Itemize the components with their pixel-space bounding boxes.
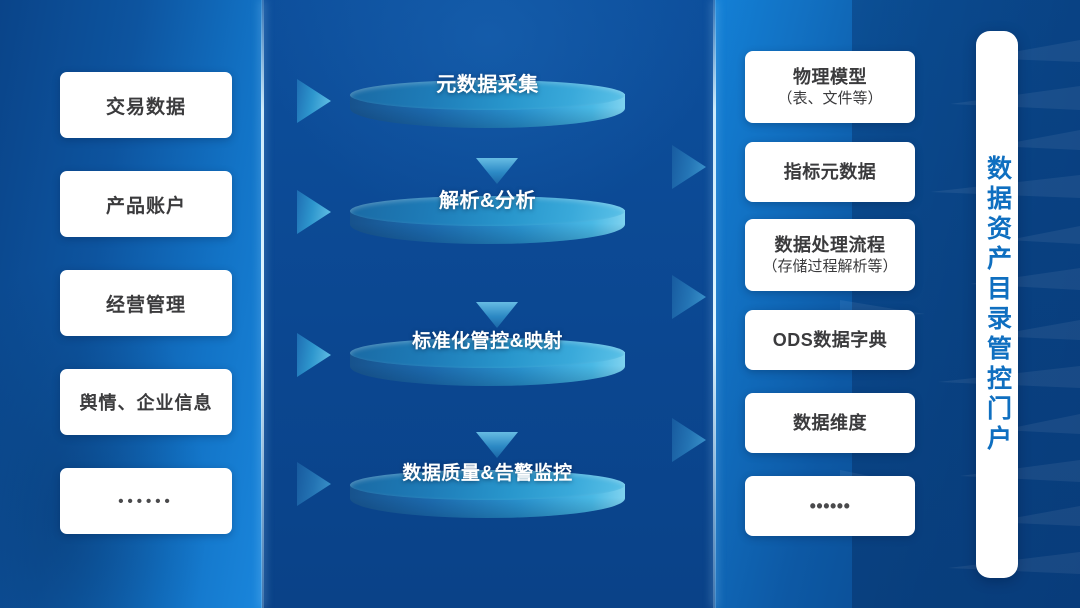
asset-box-title: ODS数据字典 bbox=[773, 329, 888, 352]
asset-box-subtitle: （存储过程解析等） bbox=[762, 257, 897, 277]
diagram-canvas: 交易数据 产品账户 经营管理 舆情、企业信息 •••••• 元数据采集 bbox=[0, 0, 1080, 608]
source-data-column: 交易数据 产品账户 经营管理 舆情、企业信息 •••••• bbox=[0, 0, 262, 608]
chevron-down-icon-3 bbox=[476, 432, 518, 458]
pipeline-stage-label: 解析&分析 bbox=[350, 184, 625, 213]
ellipsis-icon: •••••• bbox=[118, 494, 174, 509]
asset-box-title: 指标元数据 bbox=[784, 161, 877, 184]
chevron-down-icon-2 bbox=[476, 302, 518, 328]
pipeline-stage-label: 数据质量&告警监控 bbox=[350, 458, 625, 485]
pipeline-stage-metadata-collection[interactable]: 元数据采集 bbox=[350, 80, 625, 142]
source-box-transaction-data[interactable]: 交易数据 bbox=[60, 72, 232, 138]
source-box-label: 产品账户 bbox=[106, 191, 186, 218]
asset-box-indicator-metadata[interactable]: 指标元数据 bbox=[745, 142, 915, 202]
asset-box-data-dimension[interactable]: 数据维度 bbox=[745, 393, 915, 453]
asset-box-title: 物理模型 bbox=[793, 66, 867, 89]
pipeline-stage-standardization-mapping[interactable]: 标准化管控&映射 bbox=[350, 338, 625, 400]
asset-box-more[interactable]: •••••• bbox=[745, 476, 915, 536]
asset-box-title: 数据维度 bbox=[793, 412, 867, 435]
pipeline-stage-label: 元数据采集 bbox=[350, 68, 625, 97]
source-box-label: 舆情、企业信息 bbox=[80, 389, 213, 415]
source-box-label: 经营管理 bbox=[106, 290, 186, 317]
portal-vertical-bar[interactable]: 数据资产目录管控门户 bbox=[976, 31, 1018, 578]
asset-box-physical-model[interactable]: 物理模型 （表、文件等） bbox=[745, 51, 915, 123]
pipeline-stage-label: 标准化管控&映射 bbox=[350, 326, 625, 353]
pipeline-stage-parse-analyze[interactable]: 解析&分析 bbox=[350, 196, 625, 258]
metadata-asset-column: 物理模型 （表、文件等） 指标元数据 数据处理流程 （存储过程解析等） ODS数… bbox=[715, 0, 1080, 608]
source-box-business-management[interactable]: 经营管理 bbox=[60, 270, 232, 336]
source-box-more[interactable]: •••••• bbox=[60, 468, 232, 534]
asset-box-title: 数据处理流程 bbox=[775, 234, 886, 257]
ellipsis-icon: •••••• bbox=[810, 495, 851, 518]
asset-box-subtitle: （表、文件等） bbox=[777, 89, 882, 109]
source-box-product-account[interactable]: 产品账户 bbox=[60, 171, 232, 237]
metadata-pipeline-column: 元数据采集 解析&分析 标准化管控&映射 数据质量&告警监控 bbox=[262, 0, 715, 608]
portal-label: 数据资产目录管控门户 bbox=[985, 155, 1010, 455]
asset-box-ods-data-dictionary[interactable]: ODS数据字典 bbox=[745, 310, 915, 370]
asset-box-data-processing-flow[interactable]: 数据处理流程 （存储过程解析等） bbox=[745, 219, 915, 291]
pipeline-stage-data-quality-alert-monitoring[interactable]: 数据质量&告警监控 bbox=[350, 470, 625, 532]
chevron-down-icon-1 bbox=[476, 158, 518, 184]
source-box-label: 交易数据 bbox=[106, 92, 186, 119]
source-box-public-opinion-enterprise-info[interactable]: 舆情、企业信息 bbox=[60, 369, 232, 435]
